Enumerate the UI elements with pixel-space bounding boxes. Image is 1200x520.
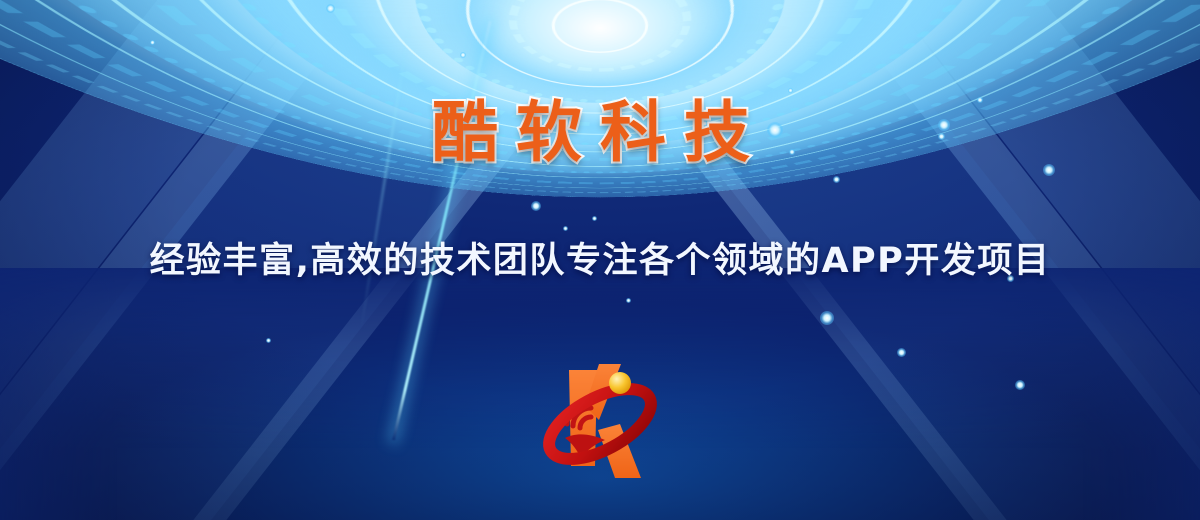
hero-banner: 酷软科技 经验丰富,高效的技术团队专注各个领域的APP开发项目	[0, 0, 1200, 520]
light-particle	[592, 216, 597, 221]
radar-ring	[492, 0, 708, 72]
light-particle	[531, 201, 541, 211]
page-subtitle: 经验丰富,高效的技术团队专注各个领域的APP开发项目	[0, 244, 1200, 279]
page-title: 酷软科技	[0, 100, 1200, 166]
light-particle	[563, 226, 568, 231]
company-logo	[525, 358, 675, 508]
light-particle	[820, 311, 834, 325]
light-particle	[460, 52, 466, 58]
light-particle	[626, 298, 631, 303]
radar-ring	[429, 0, 771, 87]
light-particle	[897, 348, 906, 357]
light-beam-secondary	[360, 4, 414, 330]
radar-ring	[341, 0, 858, 103]
light-particle	[788, 88, 793, 93]
light-particle	[150, 40, 155, 45]
light-particle	[266, 338, 271, 343]
light-particle	[833, 176, 840, 183]
orbit-ellipse-shape	[538, 375, 661, 473]
gold-sphere-icon	[609, 372, 631, 394]
light-beam-icon	[392, 21, 492, 441]
light-particle	[1015, 380, 1025, 390]
light-particle	[326, 4, 335, 13]
radar-ring	[547, 0, 652, 53]
